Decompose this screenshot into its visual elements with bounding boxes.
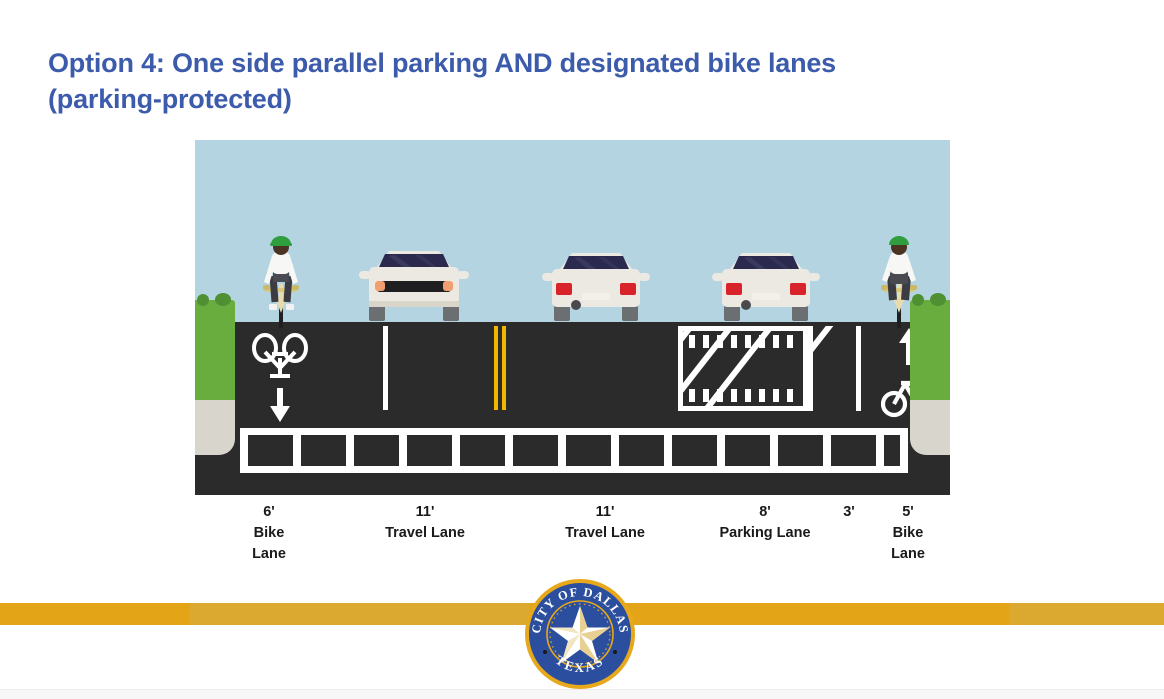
lane-name-1-line1: Travel Lane — [335, 523, 515, 544]
left-curb-concrete — [195, 400, 235, 455]
lane-width-3: 8' — [690, 502, 840, 523]
lane-name-5-line1: Bike — [873, 523, 943, 544]
car-ahead-center — [540, 247, 652, 330]
lane-width-0: 6' — [209, 502, 329, 523]
right-curb-grass — [910, 300, 950, 400]
left-bike-lane-symbol — [250, 332, 310, 432]
car-parked — [710, 247, 822, 330]
buffer-diagonal-stripes — [808, 326, 861, 411]
right-curb — [910, 300, 950, 455]
lane-name-0-line1: Bike — [209, 523, 329, 544]
lane-width-4: 3' — [819, 502, 879, 523]
right-curb-concrete — [910, 400, 950, 455]
lane-label-0: 6' Bike Lane — [209, 502, 329, 565]
cyclist-left — [253, 232, 309, 337]
parking-hatch-box — [678, 326, 808, 411]
lane-name-5-line2: Lane — [873, 544, 943, 565]
slide-bottom-edge — [0, 689, 1164, 699]
down-arrow-icon — [270, 388, 290, 422]
lane-name-0-line2: Lane — [209, 544, 329, 565]
centerline-yellow-right — [502, 326, 506, 410]
page-title: Option 4: One side parallel parking AND … — [48, 46, 1108, 117]
bike-lane-edge-line — [383, 326, 388, 410]
lane-label-3: 8' Parking Lane — [690, 502, 840, 544]
centerline-yellow-left — [494, 326, 498, 410]
lane-width-5: 5' — [873, 502, 943, 523]
lane-label-4: 3' — [819, 502, 879, 523]
crosswalk-ladder — [240, 428, 908, 473]
page-title-line-2: (parking-protected) — [48, 84, 292, 114]
street-cross-section-diagram — [195, 140, 950, 495]
parking-box-dashes-bottom — [683, 389, 803, 402]
car-oncoming-left — [355, 245, 473, 330]
lane-dimension-labels: 6' Bike Lane 11' Travel Lane 11' Travel … — [195, 502, 950, 577]
lane-label-2: 11' Travel Lane — [515, 502, 695, 544]
lane-width-1: 11' — [335, 502, 515, 523]
page-title-line-1: Option 4: One side parallel parking AND … — [48, 48, 836, 78]
lane-label-1: 11' Travel Lane — [335, 502, 515, 544]
lane-width-2: 11' — [515, 502, 695, 523]
gold-bar-segment-0 — [0, 603, 190, 625]
parking-box-dashes-top — [683, 335, 803, 348]
city-of-dallas-seal: CITY OF DALLAS TEXAS — [524, 578, 636, 690]
lane-name-3-line1: Parking Lane — [690, 523, 840, 544]
gold-bar-segment-3 — [1009, 603, 1164, 625]
lane-name-2-line1: Travel Lane — [515, 523, 695, 544]
left-curb-grass — [195, 300, 235, 400]
lane-label-5: 5' Bike Lane — [873, 502, 943, 565]
left-curb — [195, 300, 235, 455]
gold-bar-segment-1 — [190, 603, 530, 625]
